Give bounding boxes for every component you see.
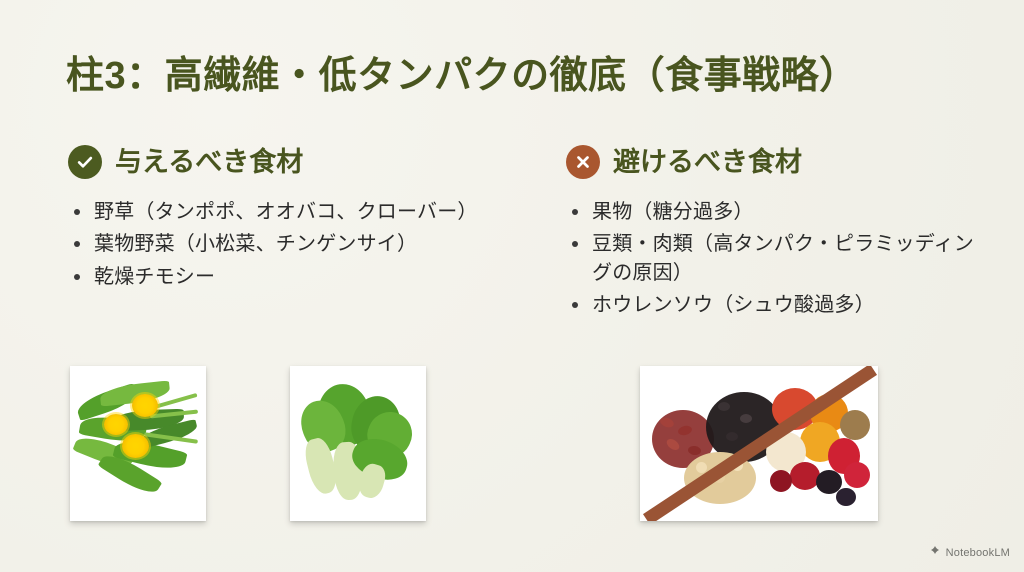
bad-foods-list: 果物（糖分過多） 豆類・肉類（高タンパク・ピラミッディングの原因） ホウレンソウ…: [566, 198, 986, 320]
list-item: 乾燥チモシー: [68, 263, 509, 291]
x-circle-icon: [566, 145, 600, 179]
column-good-heading-label: 与えるべき食材: [115, 149, 303, 176]
komatsuna-greens-photo: [290, 366, 426, 521]
column-bad-foods: 避けるべき食材 果物（糖分過多） 豆類・肉類（高タンパク・ピラミッディングの原因…: [566, 140, 986, 324]
dandelion-greens-illustration: [70, 366, 206, 521]
column-good-foods: 与えるべき食材 野草（タンポポ、オオバコ、クローバー） 葉物野菜（小松菜、チンゲ…: [68, 140, 538, 295]
beans-and-fruit-photo: [640, 366, 878, 521]
list-item: 豆類・肉類（高タンパク・ピラミッディングの原因）: [566, 230, 986, 287]
column-bad-heading-label: 避けるべき食材: [613, 149, 802, 176]
notebooklm-label: NotebookLM: [946, 547, 1010, 559]
list-item: 葉物野菜（小松菜、チンゲンサイ）: [68, 230, 509, 258]
list-item: 野草（タンポポ、オオバコ、クローバー）: [68, 198, 509, 226]
column-bad-heading: 避けるべき食材: [566, 140, 986, 184]
dandelion-greens-photo: [70, 366, 206, 521]
beans-and-fruit-illustration: [640, 366, 878, 521]
check-circle-icon: [68, 145, 102, 179]
list-item: 果物（糖分過多）: [566, 198, 986, 226]
list-item: ホウレンソウ（シュウ酸過多）: [566, 291, 986, 319]
komatsuna-greens-illustration: [290, 366, 426, 521]
column-good-heading: 与えるべき食材: [68, 140, 538, 184]
notebooklm-logo-icon: [929, 545, 941, 560]
slide-canvas: 柱3：高繊維・低タンパクの徹底（食事戦略） 与えるべき食材 野草（タンポポ、オオ…: [0, 0, 1024, 572]
good-foods-list: 野草（タンポポ、オオバコ、クローバー） 葉物野菜（小松菜、チンゲンサイ） 乾燥チ…: [68, 198, 538, 291]
page-title: 柱3：高繊維・低タンパクの徹底（食事戦略）: [66, 44, 858, 99]
notebooklm-watermark: NotebookLM: [929, 545, 1010, 560]
